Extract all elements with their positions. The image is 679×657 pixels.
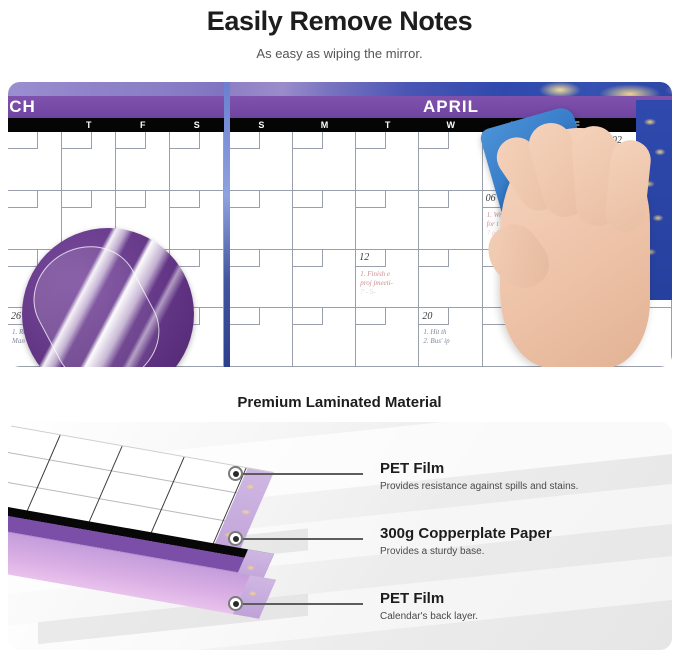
date-number: . [356,132,386,149]
calendar-cell[interactable]: . [356,191,419,250]
calendar-cell[interactable]: . [230,308,293,367]
date-number: . [419,191,449,208]
date-number: . [293,132,323,149]
calendar-cell[interactable]: . [116,132,170,191]
calendar-cell[interactable]: . [293,308,356,367]
date-number: . [62,132,92,149]
date-number: . [419,250,449,267]
layer-label: PET Film [380,590,478,607]
calendar-cell[interactable]: . [8,191,62,250]
date-number: . [230,191,260,208]
note-line: 1. Hit th [423,328,479,337]
month-name-left: RCH [8,97,36,117]
date-number: 20 [419,308,449,325]
date-number: . [230,132,260,149]
hand-with-sponge [474,100,672,367]
material-section-title: Premium Laminated Material [0,394,679,411]
page-subtitle: As easy as wiping the mirror. [0,46,679,62]
weekday-left-0 [8,118,62,132]
date-number: . [293,308,323,325]
date-number: . [419,132,449,149]
callout-leader-line [243,538,363,540]
hero-section: Easily Remove Notes As easy as wiping th… [0,0,679,62]
weekday-left-2: F [116,118,170,132]
month-header-left: RCH [8,96,224,118]
weekday-left-3: S [170,118,224,132]
material-layers-panel: PET Film Provides resistance against spi… [8,422,672,650]
date-number: . [356,191,386,208]
note-line: ? - 5- [360,288,416,297]
layer-description: Provides resistance against spills and s… [380,481,578,492]
date-number: . [8,250,38,267]
date-number: 12 [356,250,386,267]
weekday-right-2: T [356,118,419,132]
note-line: 2. Bus' ip [423,337,479,346]
calendar-cell[interactable]: . [293,250,356,309]
date-number: . [293,191,323,208]
calendar-cell[interactable]: . [8,132,62,191]
layer-info-3: PET Film Calendar's back layer. [380,590,478,622]
layer-info-1: PET Film Provides resistance against spi… [380,460,578,492]
callout-dot-icon [228,531,243,546]
date-number: . [230,250,260,267]
calendar-cell[interactable]: . [62,132,116,191]
layer-info-2: 300g Copperplate Paper Provides a sturdy… [380,525,552,557]
date-number: . [356,308,386,325]
calendar-cell[interactable]: . [293,132,356,191]
callout-marker-1 [228,466,363,481]
layer-description: Calendar's back layer. [380,611,478,622]
handwritten-note: 1. Hit th 2. Bus' ip [423,328,479,346]
calendar-binding-spine [224,82,230,367]
calendar-cell[interactable]: . [293,191,356,250]
layer-description: Provides a sturdy base. [380,546,552,557]
date-number: . [116,191,146,208]
date-number: . [293,250,323,267]
date-number: . [116,132,146,149]
calendar-cell[interactable]: . [230,191,293,250]
callout-leader-line [243,473,363,475]
date-number: . [170,191,200,208]
callout-dot-icon [228,466,243,481]
weekday-right-1: M [293,118,356,132]
layer-label: PET Film [380,460,578,477]
handwritten-note: 1. Finish e proj jmeeti- ? - 5- [360,270,416,297]
calendar-cell[interactable]: . [170,132,224,191]
date-number: . [62,191,92,208]
hand-icon [500,128,650,367]
callout-marker-2 [228,531,363,546]
date-number: . [170,132,200,149]
weekday-left-1: T [62,118,116,132]
callout-leader-line [243,603,363,605]
calendar-photo: RCH T F S . . . . . . . . . . . . 26 1. … [8,82,672,367]
callout-marker-3 [228,596,363,611]
calendar-cell[interactable]: . [230,250,293,309]
date-number: . [8,191,38,208]
weekday-bar-left: T F S [8,118,224,132]
month-name-right: APRIL [423,97,479,117]
calendar-cell[interactable]: . [356,308,419,367]
note-line: proj jmeeti- [360,279,416,288]
calendar-cell-12[interactable]: 12 1. Finish e proj jmeeti- ? - 5- [356,250,419,309]
weekday-right-0: S [230,118,293,132]
thumb-icon [478,215,559,299]
calendar-cell[interactable]: . [356,132,419,191]
calendar-cell[interactable]: . [170,191,224,250]
date-number: . [230,308,260,325]
note-line: 1. Finish e [360,270,416,279]
layer-label: 300g Copperplate Paper [380,525,552,542]
callout-dot-icon [228,596,243,611]
page-title: Easily Remove Notes [0,4,679,38]
calendar-cell[interactable]: . [230,132,293,191]
date-number: . [8,132,38,149]
